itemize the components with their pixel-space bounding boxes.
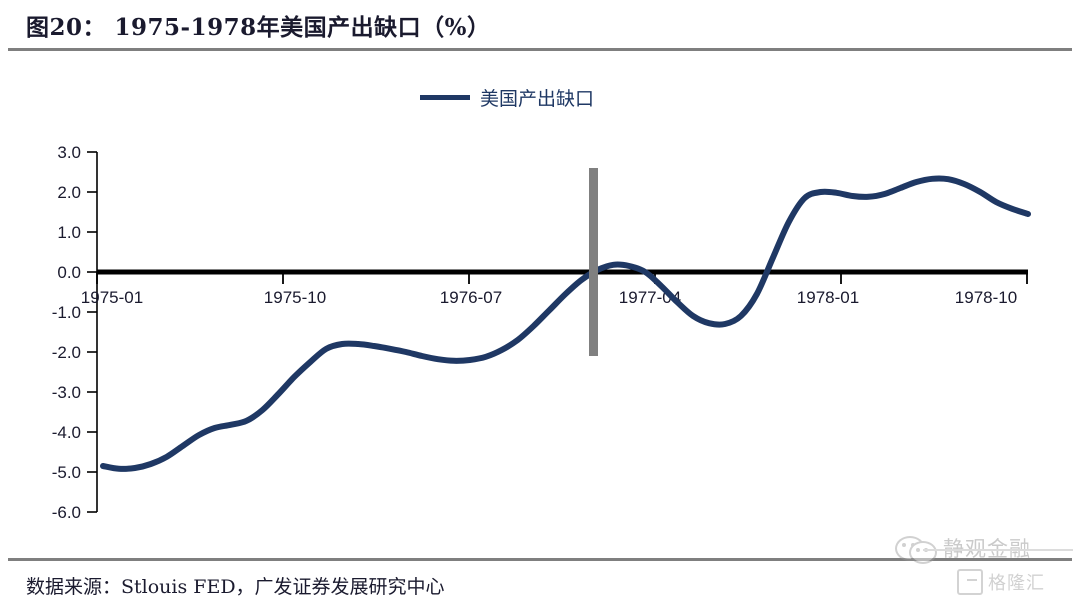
wechat-icon	[895, 534, 937, 562]
x-tick-label-1978-10: 1978-10	[955, 288, 1017, 307]
y-tick-label-neg4: -4.0	[52, 423, 81, 442]
x-tick-label-1975-10: 1975-10	[264, 288, 326, 307]
watermark-account-name: 静观金融	[943, 533, 1031, 563]
x-axis-ticks	[97, 272, 1027, 284]
y-tick-label-neg6: -6.0	[52, 503, 81, 522]
y-tick-label-neg2: -2.0	[52, 343, 81, 362]
y-tick-label-neg1: -1.0	[52, 303, 81, 322]
chart-page: 图20： 1975-1978年美国产出缺口（%） 美国产出缺口	[0, 0, 1080, 610]
page-title: 图20： 1975-1978年美国产出缺口（%）	[26, 8, 490, 42]
y-tick-label-2: 2.0	[57, 183, 81, 202]
watermark-brand-name: 格隆汇	[988, 569, 1045, 595]
y-tick-label-1: 1.0	[57, 223, 81, 242]
watermark-row-primary: 静观金融	[895, 533, 1031, 563]
legend-line-swatch	[420, 95, 470, 100]
y-tick-label-neg5: -5.0	[52, 463, 81, 482]
vertical-marker-bar	[589, 168, 598, 356]
chart-legend: 美国产出缺口	[420, 84, 594, 111]
watermark-row-brand: 格隆汇	[957, 569, 1045, 595]
watermark-underline	[923, 549, 1073, 551]
x-tick-label-1977-04: 1977-04	[619, 288, 681, 307]
x-tick-label-1976-07: 1976-07	[440, 288, 502, 307]
x-tick-label-1975-01: 1975-01	[81, 288, 143, 307]
y-tick-label-3: 3.0	[57, 143, 81, 162]
source-note: 数据来源：Stlouis FED，广发证券发展研究中心	[26, 572, 445, 599]
y-tick-label-neg3: -3.0	[52, 383, 81, 402]
title-bar: 图20： 1975-1978年美国产出缺口（%）	[0, 0, 1080, 52]
y-axis-ticks	[87, 152, 97, 512]
gelonghui-logo-icon	[957, 569, 983, 595]
series-line-output-gap	[103, 178, 1028, 468]
title-divider	[8, 48, 1072, 51]
watermark: 静观金融 格隆汇	[895, 527, 1070, 605]
legend-label: 美国产出缺口	[480, 84, 594, 111]
x-tick-label-1978-01: 1978-01	[797, 288, 859, 307]
y-tick-label-0: 0.0	[57, 263, 81, 282]
